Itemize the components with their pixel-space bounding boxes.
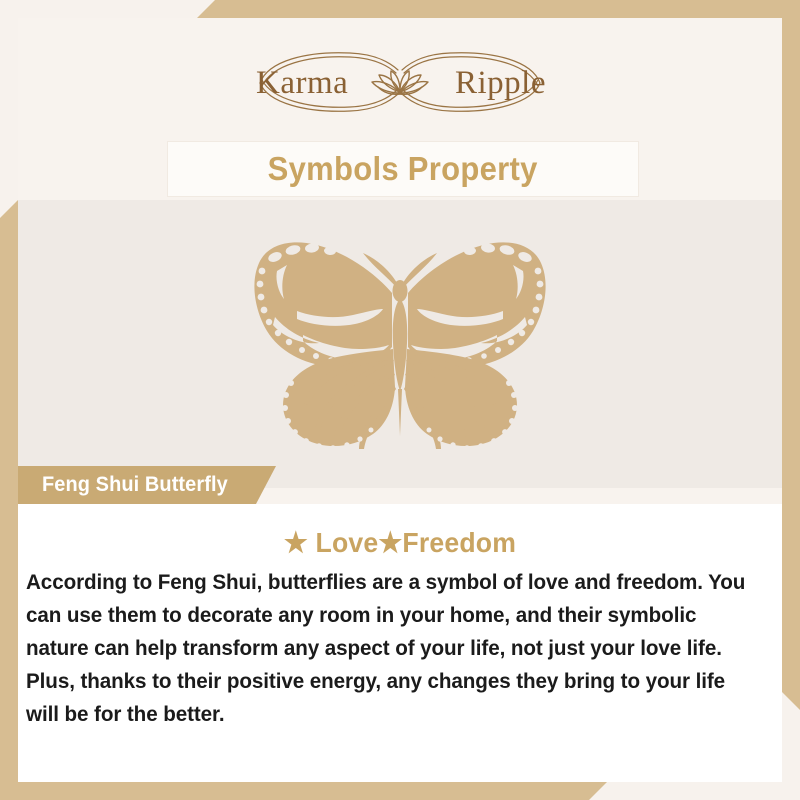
description-paragraph: According to Feng Shui, butterflies are … — [26, 566, 758, 731]
hero-image-panel — [18, 200, 782, 488]
tagline: ★ Love★Freedom — [37, 526, 763, 559]
brand-logo: Karma Ripple — [250, 43, 550, 117]
feng-shui-banner: Feng Shui Butterfly — [18, 466, 276, 504]
brand-name-left: Karma — [256, 67, 348, 100]
title-band: Symbols Property — [168, 142, 638, 196]
product-infographic-page: Karma Ripple Symbols Property — [0, 0, 800, 800]
brand-header: Karma Ripple — [18, 18, 782, 142]
content-card: Karma Ripple Symbols Property — [18, 18, 782, 782]
butterfly-illustration — [235, 231, 565, 457]
frame-accent-left — [0, 200, 18, 800]
butterfly-icon — [235, 231, 565, 457]
banner-label: Feng Shui Butterfly — [42, 473, 228, 497]
brand-name-right: Ripple — [455, 67, 546, 100]
frame-accent-right — [782, 0, 800, 710]
page-title: Symbols Property — [268, 150, 538, 188]
description-section: ★ Love★Freedom According to Feng Shui, b… — [18, 504, 782, 782]
